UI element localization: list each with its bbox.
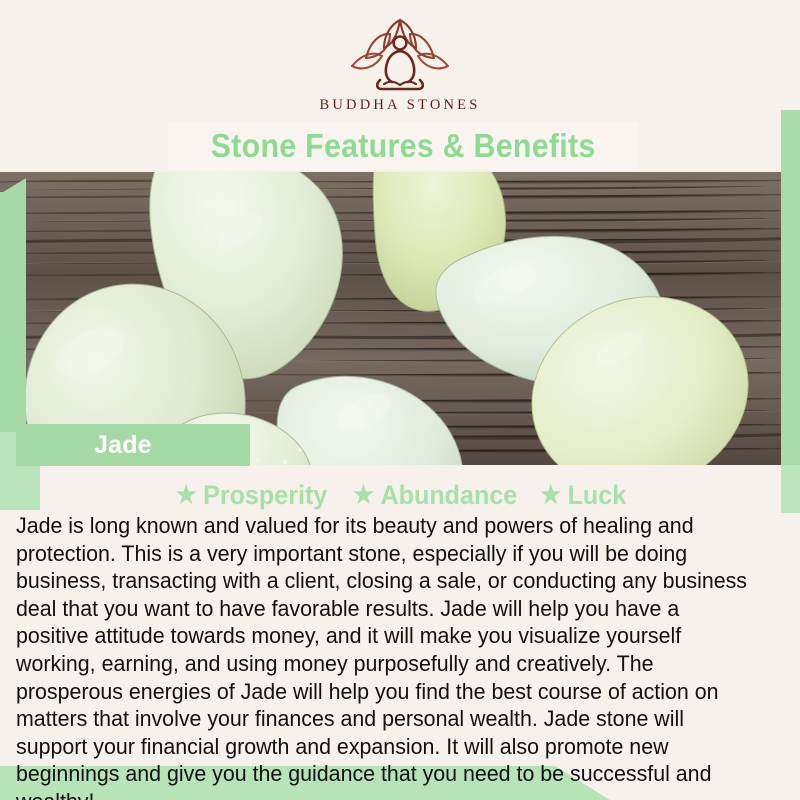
star-icon: ★	[176, 483, 197, 508]
benefit-item-luck: ★ Luck	[541, 480, 627, 511]
right-frame-bar	[781, 110, 800, 470]
lotus-meditation-icon	[340, 18, 460, 92]
stone-photo	[0, 172, 800, 465]
benefit-label: Abundance	[381, 480, 518, 511]
benefits-row: ★ Prosperity ★ Abundance ★ Luck	[0, 478, 800, 512]
benefit-label: Prosperity	[203, 480, 327, 511]
page-title: Stone Features & Benefits	[211, 127, 596, 165]
brand-logo: BUDDHA STONES	[0, 18, 800, 114]
benefit-item-abundance: ★ Abundance	[353, 480, 517, 511]
stone-description: Jade is long known and valued for its be…	[16, 512, 751, 800]
stone-name-label: Jade	[94, 431, 152, 460]
stone-name-banner: Jade	[16, 424, 250, 466]
brand-name: BUDDHA STONES	[320, 97, 481, 114]
star-icon: ★	[353, 483, 374, 508]
benefit-item-prosperity: ★ Prosperity	[176, 480, 328, 511]
benefit-label: Luck	[568, 480, 627, 511]
star-icon: ★	[541, 483, 562, 508]
title-banner: Stone Features & Benefits	[168, 122, 638, 170]
infographic-page: BUDDHA STONES Stone Features & Benefits	[0, 0, 800, 800]
